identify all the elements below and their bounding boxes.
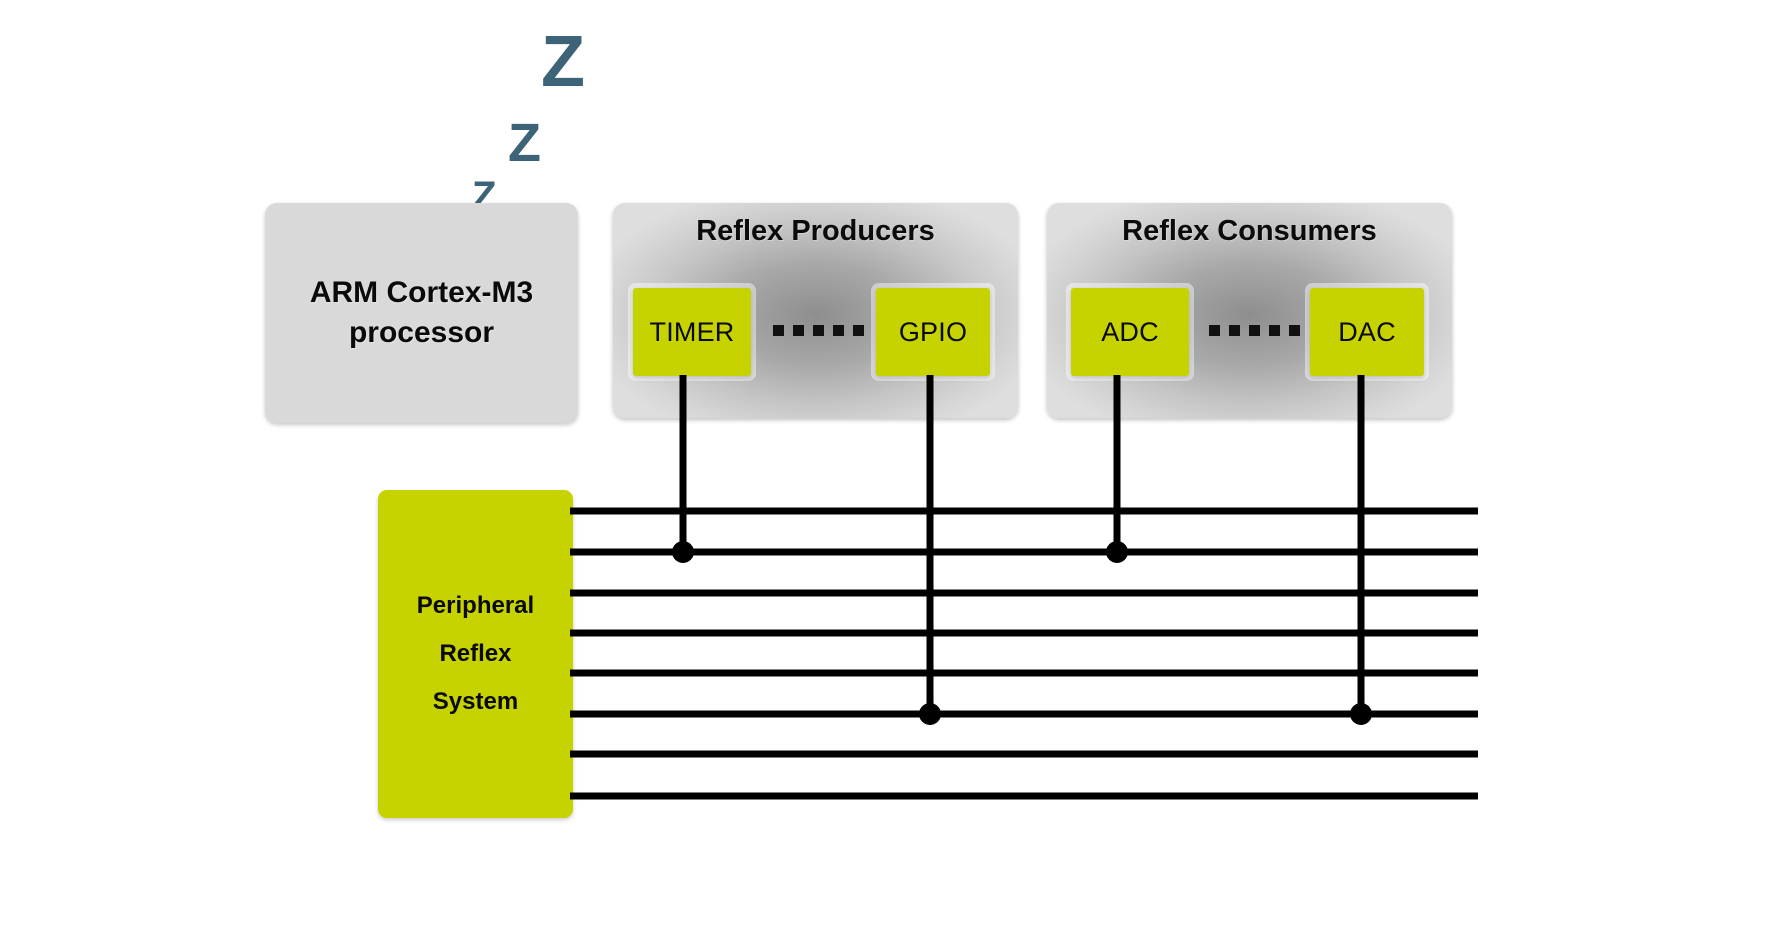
junction-dot-gpio bbox=[919, 703, 941, 725]
junction-dot-dac bbox=[1350, 703, 1372, 725]
junction-dot-adc bbox=[1106, 541, 1128, 563]
reflex-bus-wiring bbox=[0, 0, 1772, 947]
diagram-canvas: Z Z Z ARM Cortex-M3 processor Reflex Pro… bbox=[0, 0, 1772, 947]
junction-dot-timer bbox=[672, 541, 694, 563]
